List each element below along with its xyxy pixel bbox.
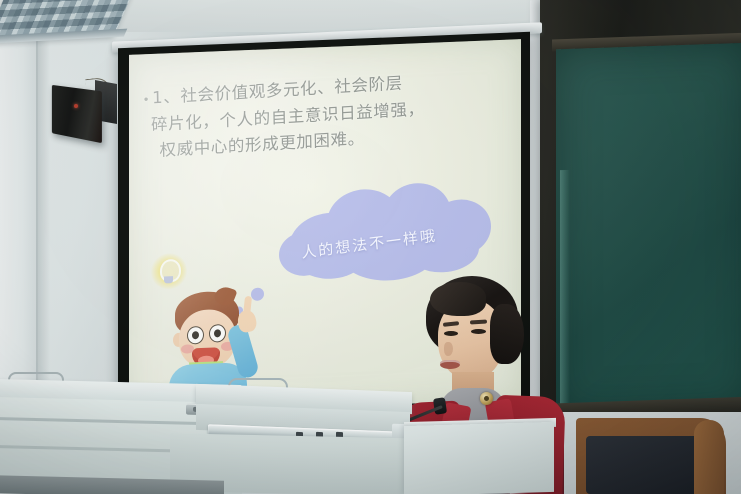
slide-bullet-marker: • xyxy=(142,92,150,106)
speaker-led-indicator xyxy=(74,104,78,108)
presenter-eye-right xyxy=(471,329,486,334)
chair-armrest xyxy=(694,420,724,494)
presenter-hair-side xyxy=(490,304,524,364)
presenter-mouth xyxy=(440,360,460,369)
podium-right-panel xyxy=(404,422,554,494)
lightbulb-base xyxy=(164,276,173,283)
thought-bubble: 人的想法不一样哦 xyxy=(279,180,497,285)
slide-item-number: 1、 xyxy=(152,87,181,108)
lightbulb-icon xyxy=(151,253,187,294)
classroom-photo: •1、社会价值观多元化、社会阶层 碎片化，个人的自主意识日益增强， 权威中心的形… xyxy=(0,0,741,494)
chair-backrest-pad xyxy=(586,436,702,494)
presenter-hair-fringe xyxy=(430,282,486,316)
presenter-eye-left xyxy=(444,331,458,336)
boy-pupil-left xyxy=(192,331,199,339)
wall-speaker-icon xyxy=(52,85,102,143)
presenter-badge-center xyxy=(484,396,489,401)
boy-pupil-right xyxy=(214,329,221,337)
slide-text-block: •1、社会价值观多元化、社会阶层 碎片化，个人的自主意识日益增强， 权威中心的形… xyxy=(136,61,521,167)
